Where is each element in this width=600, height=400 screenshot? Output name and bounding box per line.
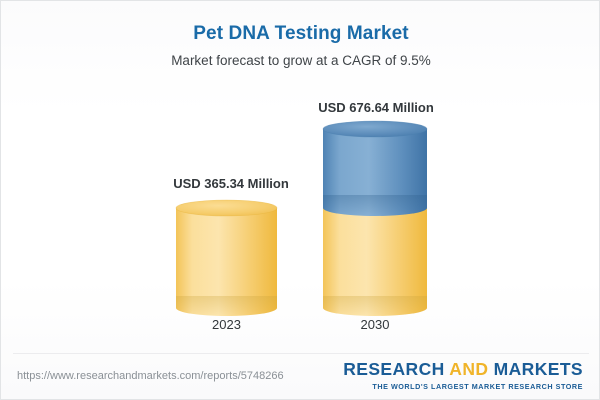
logo-word-research: RESEARCH: [343, 359, 449, 379]
logo-word-markets: MARKETS: [488, 359, 583, 379]
logo-tagline: THE WORLD'S LARGEST MARKET RESEARCH STOR…: [343, 383, 583, 390]
footer-divider: [13, 353, 589, 354]
logo-word-and: AND: [449, 359, 488, 379]
x-axis-label-2023: 2023: [176, 317, 277, 332]
value-label-2023: USD 365.34 Million: [151, 176, 311, 191]
value-label-2030: USD 676.64 Million: [296, 100, 456, 115]
x-axis-label-2030: 2030: [323, 317, 427, 332]
bar-chart-plot-area: USD 365.34 Million USD 676.64 Million 20…: [1, 1, 600, 351]
research-and-markets-logo[interactable]: RESEARCH AND MARKETS THE WORLD'S LARGEST…: [343, 361, 583, 390]
chart-card: Pet DNA Testing Market Market forecast t…: [0, 0, 600, 400]
bar-cylinder-2023: [176, 200, 277, 316]
logo-wordmark: RESEARCH AND MARKETS: [343, 361, 583, 379]
bar-cylinder-2030: [323, 121, 427, 316]
report-url-link[interactable]: https://www.researchandmarkets.com/repor…: [17, 370, 284, 382]
